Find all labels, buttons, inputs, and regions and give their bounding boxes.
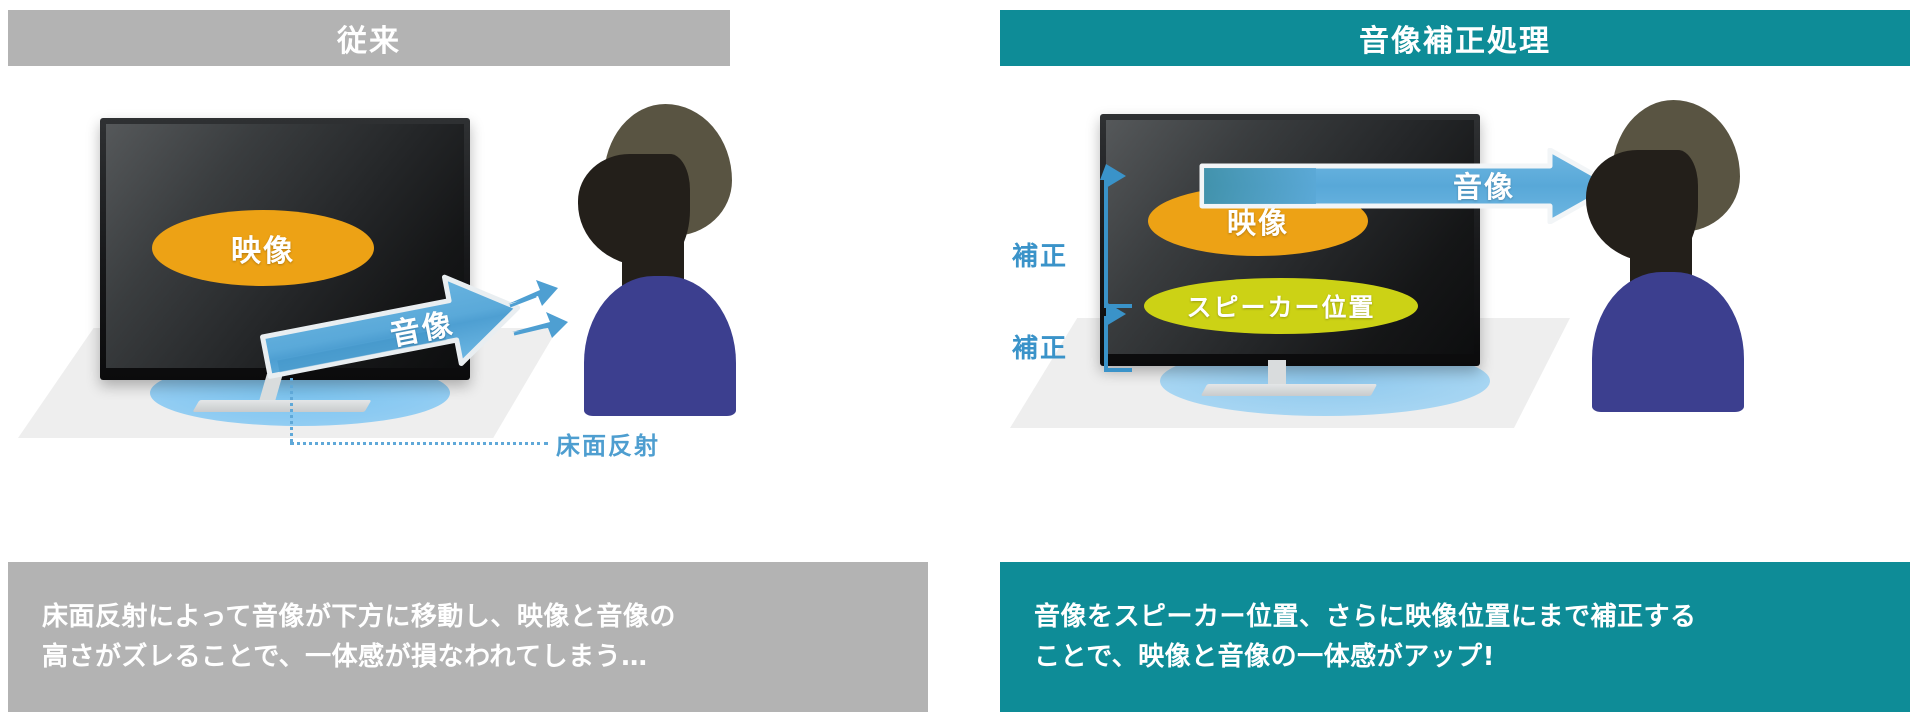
- panel-left-header: 従来: [8, 10, 730, 66]
- floor-reflection-label: 床面反射: [556, 426, 660, 461]
- floor-reflection-leader-horizontal: [290, 442, 548, 445]
- person-silhouette-icon: [560, 100, 750, 410]
- caption-line-2: ことで、映像と音像の一体感がアップ!: [1034, 637, 1876, 677]
- speaker-position-text: スピーカー位置: [1186, 288, 1375, 324]
- person-body: [584, 276, 736, 416]
- comparison-diagram: 従来 映像: [0, 0, 1920, 720]
- panel-right-illustration: 映像 スピーカー位置: [990, 70, 1920, 490]
- person-silhouette-icon: [1568, 96, 1758, 406]
- panel-right-header: 音像補正処理: [1000, 10, 1910, 66]
- caption-line-1: 音像をスピーカー位置、さらに映像位置にまで補正する: [1034, 597, 1876, 637]
- person-body: [1592, 272, 1744, 412]
- sound-arrow-icon: 音像: [1198, 148, 1618, 224]
- floor-reflection-leader-vertical: [290, 378, 293, 442]
- panel-corrected: 音像補正処理 映像 スピーカー位置: [990, 0, 1920, 720]
- video-label-text: 映像: [231, 226, 295, 270]
- tv-stand-base: [1201, 384, 1377, 396]
- panel-left-caption: 床面反射によって音像が下方に移動し、映像と音像の 高さがズレることで、一体感が損…: [8, 562, 928, 712]
- panel-conventional: 従来 映像: [0, 0, 940, 720]
- video-label-pill: 映像: [152, 210, 374, 286]
- correction-label-upper: 補正: [1012, 236, 1068, 273]
- caption-line-1: 床面反射によって音像が下方に移動し、映像と音像の: [42, 597, 894, 637]
- caption-line-2: 高さがズレることで、一体感が損なわれてしまう…: [42, 637, 894, 677]
- correction-label-lower: 補正: [1012, 328, 1068, 365]
- panel-right-caption: 音像をスピーカー位置、さらに映像位置にまで補正する ことで、映像と音像の一体感が…: [1000, 562, 1910, 712]
- sound-arrow-svg: [1198, 148, 1618, 224]
- panel-left-illustration: 映像: [0, 70, 940, 490]
- sound-label-text: 音像: [1434, 162, 1534, 208]
